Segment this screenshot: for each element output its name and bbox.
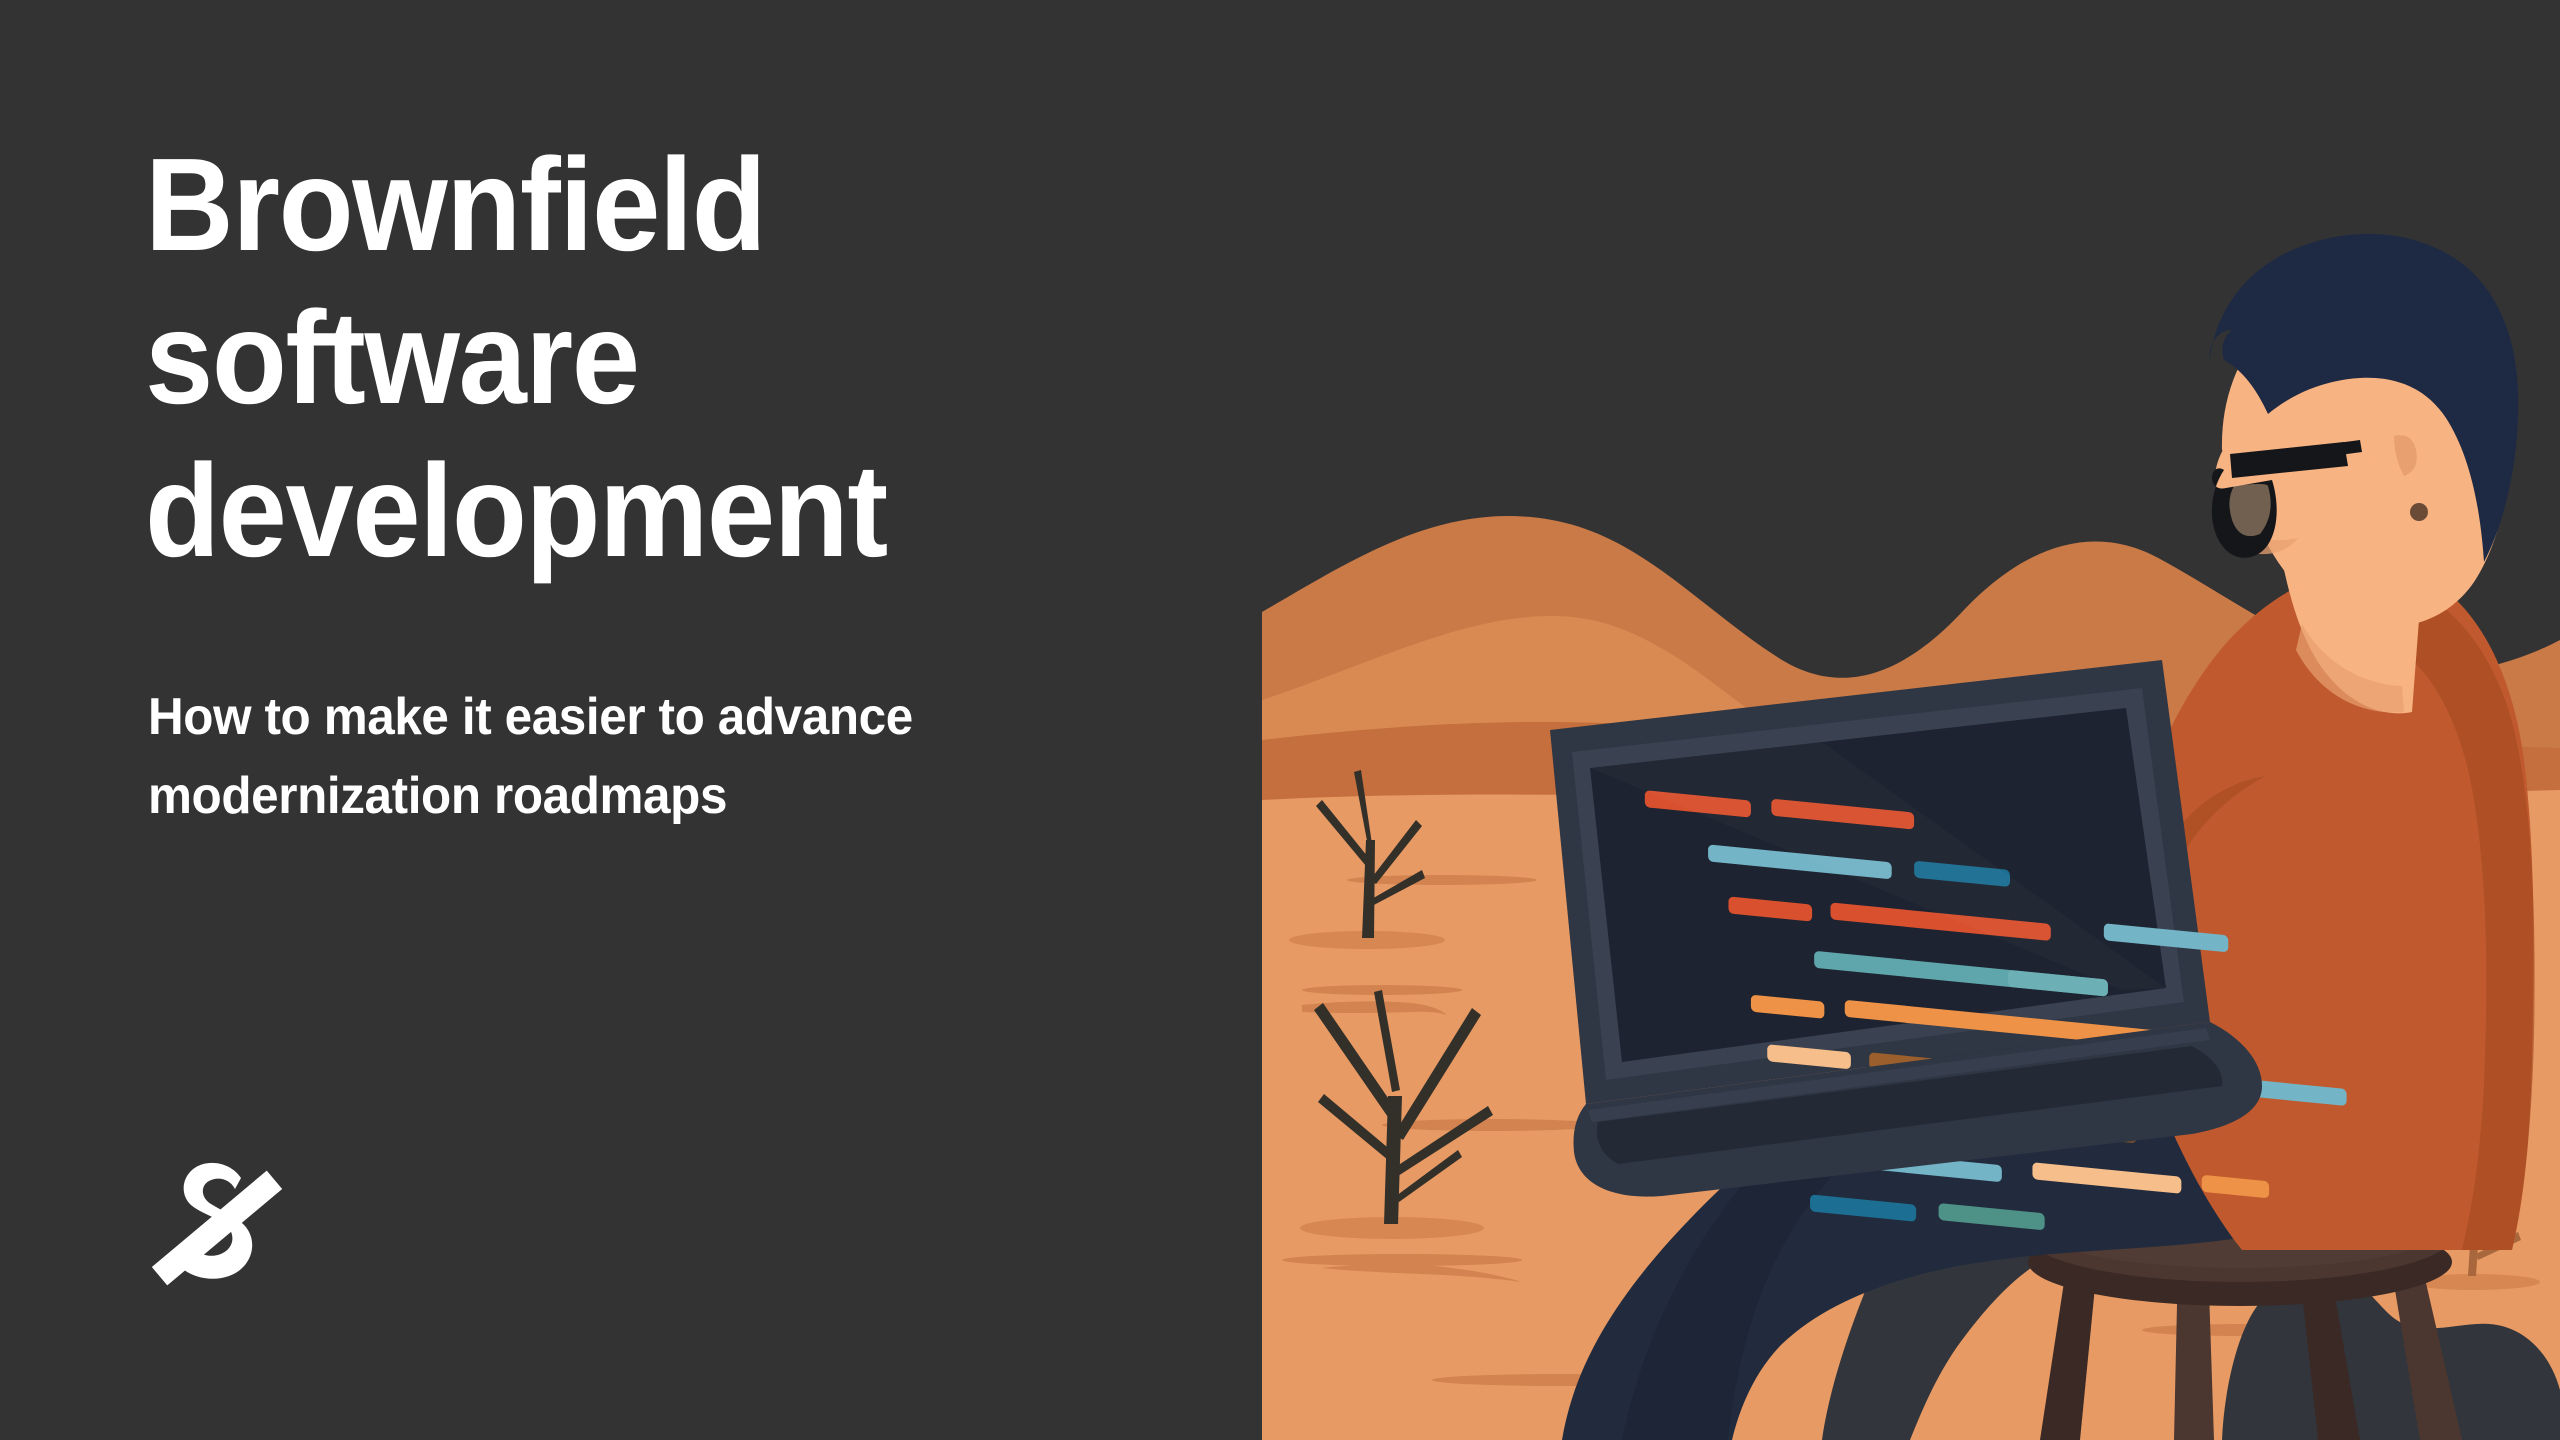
page-title: Brownfield software development — [145, 128, 1131, 587]
s-slash-monogram-icon — [146, 1148, 288, 1298]
hero-illustration — [1262, 0, 2560, 1440]
brand-logo[interactable] — [146, 1148, 288, 1298]
page-subtitle: How to make it easier to advance moderni… — [148, 678, 1108, 836]
text-panel: Brownfield software development How to m… — [0, 0, 1262, 1440]
desert-developer-scene — [1262, 0, 2560, 1440]
hero-banner: Brownfield software development How to m… — [0, 0, 2560, 1440]
earring — [2410, 503, 2428, 521]
